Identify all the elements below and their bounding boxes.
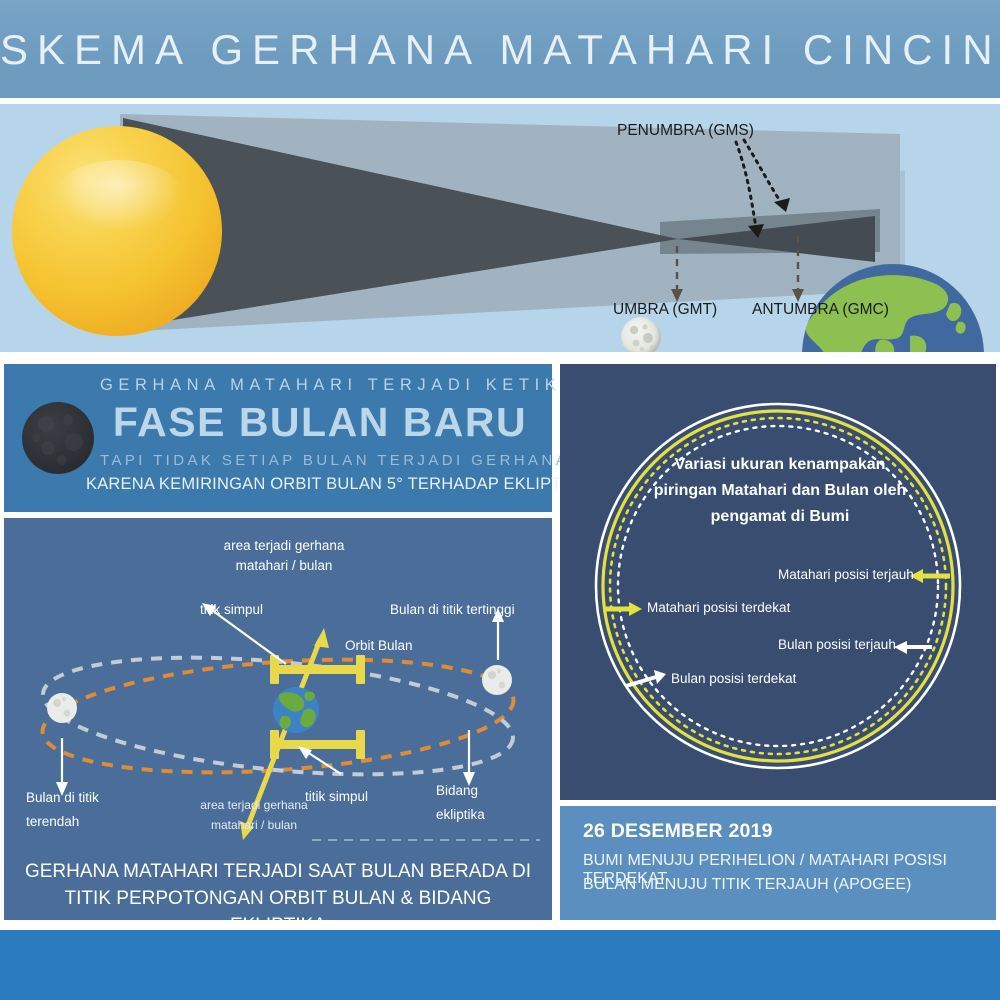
new-moon-line-4: KARENA KEMIRINGAN ORBIT BULAN 5° TERHADA… bbox=[86, 475, 554, 494]
label-node-top: titik simpul bbox=[200, 602, 263, 617]
orbit-caption-line-1: GERHANA MATAHARI TERJADI SAAT BULAN BERA… bbox=[14, 858, 542, 885]
orbit-caption: GERHANA MATAHARI TERJADI SAAT BULAN BERA… bbox=[14, 858, 542, 939]
label-moon-lowest-2: terendah bbox=[26, 814, 79, 829]
page-title: SKEMA GERHANA MATAHARI CINCIN bbox=[0, 26, 1000, 74]
new-moon-line-1: GERHANA MATAHARI TERJADI KETIKA bbox=[100, 376, 540, 395]
new-moon-line-3: TAPI TIDAK SETIAP BULAN TERJADI GERHANA bbox=[100, 452, 540, 469]
date-value: 26 DESEMBER 2019 bbox=[583, 820, 773, 843]
moon-highest-body bbox=[482, 665, 512, 695]
new-moon-headline: FASE BULAN BARU bbox=[100, 399, 540, 445]
label-eclipse-area-top-2: matahari / bulan bbox=[204, 558, 364, 573]
earth-small-body bbox=[273, 687, 319, 733]
new-moon-craters-icon bbox=[22, 402, 94, 474]
label-penumbra: PENUMBRA (GMS) bbox=[617, 122, 754, 140]
disc-title-line-3: pengamat di Bumi bbox=[600, 504, 960, 530]
label-moon-nearest: Bulan posisi terdekat bbox=[671, 671, 796, 686]
disc-variation-diagram bbox=[560, 364, 996, 800]
label-ecliptic-plane-2: ekliptika bbox=[436, 807, 485, 822]
disc-title-line-1: Variasi ukuran kenampakan bbox=[600, 452, 960, 478]
penumbra-arrow-1-line bbox=[744, 140, 782, 204]
penumbra-arrow-2-head bbox=[748, 224, 764, 238]
moon-lowest-body bbox=[47, 693, 77, 723]
label-moon-lowest-1: Bulan di titik bbox=[26, 790, 99, 805]
label-moon-farthest: Bulan posisi terjauh bbox=[778, 637, 896, 652]
infographic-page: SKEMA GERHANA MATAHARI CINCIN bbox=[0, 0, 1000, 1000]
label-moon-orbit: Orbit Bulan bbox=[345, 638, 413, 653]
disc-variation-panel bbox=[560, 364, 996, 800]
new-moon-disc bbox=[22, 402, 94, 474]
disc-title-line-2: piringan Matahari dan Bulan oleh bbox=[600, 478, 960, 504]
arrow-moon-farthest bbox=[894, 641, 932, 654]
eclipse-area-arrow-head-top bbox=[314, 628, 329, 648]
arrow-sun-farthest bbox=[910, 569, 950, 583]
label-moon-highest: Bulan di titik tertinggi bbox=[390, 602, 515, 617]
arrow-moon-nearest bbox=[626, 670, 666, 686]
label-eclipse-area-bottom-2: matahari / bulan bbox=[182, 818, 326, 832]
arrow-sun-nearest bbox=[604, 602, 642, 616]
label-antumbra: ANTUMBRA (GMC) bbox=[752, 301, 889, 319]
eclipse-schematic-panel: PENUMBRA (GMS) UMBRA (GMT) ANTUMBRA (GMC… bbox=[0, 104, 1000, 352]
date-note-line-2: BULAN MENUJU TITIK TERJAUH (APOGEE) bbox=[583, 876, 911, 894]
label-ecliptic-plane-1: Bidang bbox=[436, 783, 478, 798]
label-sun-farthest: Matahari posisi terjauh bbox=[778, 567, 914, 582]
penumbra-arrow-1-head bbox=[774, 198, 790, 212]
label-node-bottom: titik simpul bbox=[305, 789, 368, 804]
footer-bar: LANGITSELATAN Astronomi Indonesia langit… bbox=[0, 930, 1000, 1000]
disc-panel-title: Variasi ukuran kenampakan piringan Matah… bbox=[600, 452, 960, 530]
label-sun-nearest: Matahari posisi terdekat bbox=[647, 600, 790, 615]
label-eclipse-area-top-1: area terjadi gerhana bbox=[204, 538, 364, 553]
label-umbra: UMBRA (GMT) bbox=[613, 301, 717, 319]
header-bar: SKEMA GERHANA MATAHARI CINCIN bbox=[0, 0, 1000, 98]
